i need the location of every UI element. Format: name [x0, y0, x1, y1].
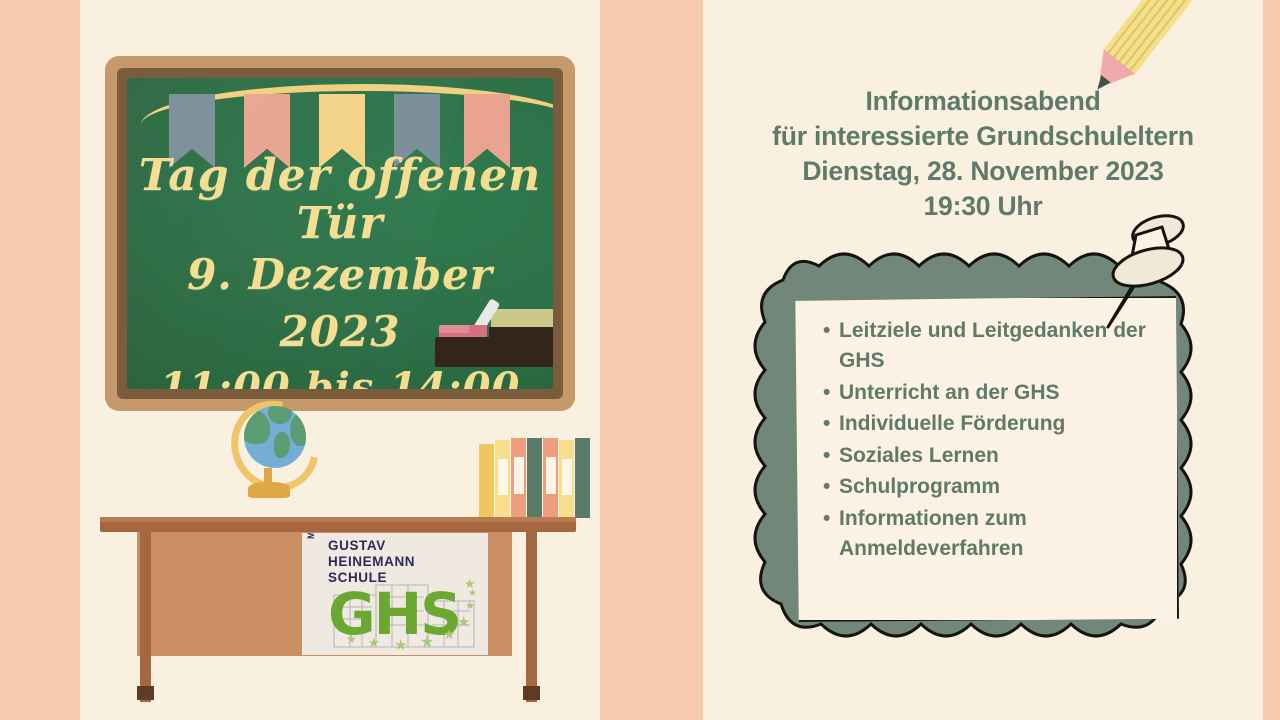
left-panel: Tag der offenen Tür 9. Dezember 2023 11:…: [80, 0, 600, 720]
desk-foot-right: [523, 686, 540, 700]
logo-city-text: MÜLHEIM RUHR: [306, 533, 322, 539]
book-label: [498, 459, 508, 495]
list-item: Individuelle Förderung: [839, 409, 1163, 439]
globe-landmass: [244, 410, 270, 444]
book: [527, 438, 542, 518]
school-logo: MÜLHEIM RUHR GUSTAV HEINEMANN SCHULE GHS…: [302, 533, 488, 655]
desk-foot-left: [137, 686, 154, 700]
headline-line-2: für interessierte Grundschuleltern: [713, 119, 1253, 154]
chalkboard-bevel: Tag der offenen Tür 9. Dezember 2023 11:…: [117, 68, 563, 399]
globe-landmass: [274, 432, 290, 458]
logo-star: ★: [346, 633, 357, 645]
logo-star: ★: [394, 638, 407, 653]
book-label: [514, 457, 524, 494]
topics-ul: Leitziele und Leitgedanken der GHS Unter…: [823, 316, 1163, 565]
globe-icon: [230, 396, 312, 506]
list-item: Soziales Lernen: [839, 441, 1163, 471]
book: [511, 438, 526, 518]
book: [575, 438, 590, 518]
bunting-flag: [169, 94, 215, 168]
topics-list: Leitziele und Leitgedanken der GHS Unter…: [823, 316, 1163, 566]
chalkboard-surface: Tag der offenen Tür 9. Dezember 2023 11:…: [127, 78, 553, 389]
globe-sphere: [244, 406, 306, 468]
book-stack: [479, 438, 593, 518]
logo-star: ★: [468, 589, 477, 599]
bunting-flag: [319, 94, 365, 168]
bunting-flag: [244, 94, 290, 168]
logo-name-line-2: HEINEMANN: [328, 554, 415, 570]
desk-top-highlight: [100, 517, 576, 522]
list-item: Schulprogramm: [839, 472, 1163, 502]
event-title: Tag der offenen Tür: [127, 152, 553, 247]
note-paper: Leitziele und Leitgedanken der GHS Unter…: [793, 296, 1179, 622]
chalk-eraser-highlight: [439, 325, 469, 333]
book: [479, 444, 494, 518]
book: [559, 440, 574, 518]
logo-star: ★: [420, 635, 434, 651]
globe-landmass: [268, 406, 292, 424]
bunting-flag: [394, 94, 440, 168]
chalk-ledge: [427, 311, 553, 367]
logo-star: ★: [443, 627, 456, 641]
chalk-box-icon: [491, 309, 553, 329]
page-title: Informationsabend für interessierte Grun…: [713, 84, 1253, 224]
book: [543, 438, 558, 518]
logo-star: ★: [368, 636, 380, 649]
chalk-tray: [435, 337, 553, 367]
desk-leg-right: [526, 532, 537, 702]
logo-name-line-1: GUSTAV: [328, 538, 415, 554]
book: [495, 440, 510, 518]
list-item: Informationen zum Anmeldeverfahren: [839, 504, 1163, 565]
headline-line-3: Dienstag, 28. November 2023: [713, 154, 1253, 189]
headline-line-1: Informationsabend: [713, 84, 1253, 119]
globe-base: [248, 482, 290, 498]
logo-star: ★: [465, 601, 475, 612]
right-panel: Informationsabend für interessierte Grun…: [703, 0, 1263, 720]
pushpin-icon: [1100, 205, 1200, 335]
chalkboard: Tag der offenen Tür 9. Dezember 2023 11:…: [105, 56, 575, 411]
book-label: [562, 459, 572, 495]
poster: Tag der offenen Tür 9. Dezember 2023 11:…: [0, 0, 1280, 720]
list-item: Unterricht an der GHS: [839, 378, 1163, 408]
book-label: [546, 457, 556, 494]
globe-landmass: [290, 412, 306, 446]
desk-leg-left: [140, 532, 151, 702]
logo-star: ★: [457, 615, 470, 630]
